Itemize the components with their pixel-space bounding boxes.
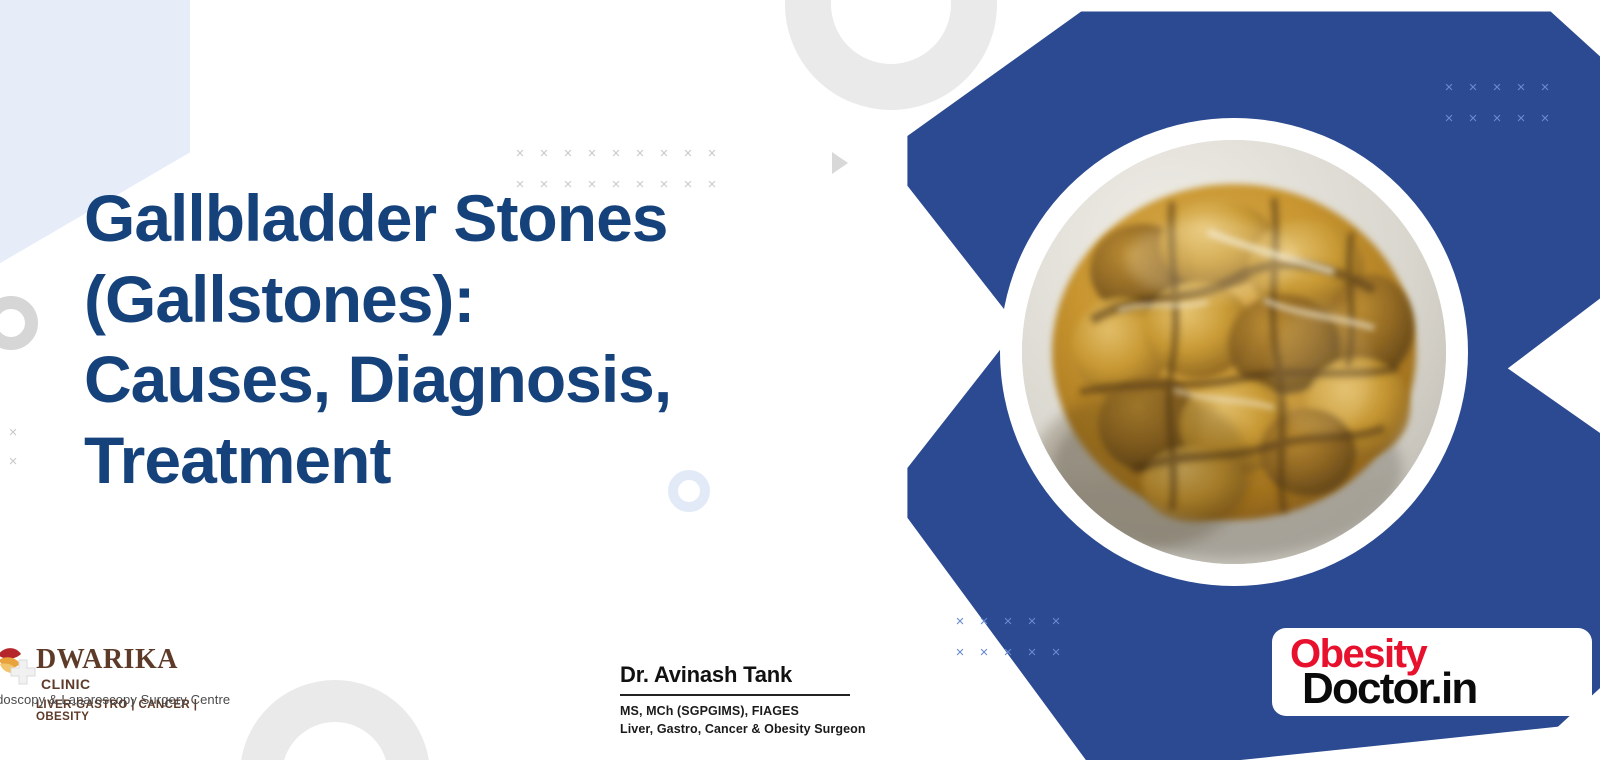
x-mark-icon: × <box>532 146 556 161</box>
x-mark-icon: × <box>1044 614 1068 629</box>
dwarika-clinic-logo: DWARIKACLINIC LIVER-GASTRO | CANCER | OB… <box>0 640 230 718</box>
x-mark-icon: × <box>972 614 996 629</box>
x-mark-icon: × <box>1044 645 1068 660</box>
dwarika-wordmark: DWARIKACLINIC LIVER-GASTRO | CANCER | OB… <box>36 644 230 723</box>
x-mark-icon: × <box>2 454 24 469</box>
x-mark-icon: × <box>604 146 628 161</box>
x-mark-icon: × <box>1509 111 1533 126</box>
dwarika-subtitle: Endoscopy & Laparoscopy Surgery Centre <box>0 692 230 707</box>
x-mark-icon: × <box>1485 80 1509 95</box>
x-pattern-bottom: ×××××××××× <box>948 614 1068 660</box>
x-mark-icon: × <box>948 614 972 629</box>
x-mark-icon: × <box>1461 111 1485 126</box>
x-mark-icon: × <box>1437 111 1461 126</box>
doctor-qualifications: MS, MCh (SGPGIMS), FIAGES <box>620 704 799 718</box>
x-mark-icon: × <box>1437 80 1461 95</box>
x-mark-icon: × <box>652 146 676 161</box>
x-mark-icon: × <box>1020 645 1044 660</box>
x-mark-icon: × <box>1485 111 1509 126</box>
x-pattern-left-edge: ×× <box>2 425 24 469</box>
x-mark-icon: × <box>556 146 580 161</box>
page-title: Gallbladder Stones (Gallstones): Causes,… <box>84 178 884 500</box>
x-mark-icon: × <box>580 146 604 161</box>
x-mark-icon: × <box>996 614 1020 629</box>
doctor-card-divider <box>620 694 850 696</box>
x-mark-icon: × <box>508 146 532 161</box>
gallstone-photo <box>1022 140 1446 564</box>
x-mark-icon: × <box>700 146 724 161</box>
x-mark-icon: × <box>1461 80 1485 95</box>
band-notch-top <box>1494 0 1600 160</box>
dwarika-name: DWARIKA <box>36 644 178 676</box>
x-mark-icon: × <box>972 645 996 660</box>
play-triangle-icon <box>832 152 848 174</box>
doctor-name: Dr. Avinash Tank <box>620 662 792 688</box>
obesity-doctor-logo: Obesity Doctor.in <box>1272 628 1592 716</box>
x-mark-icon: × <box>1533 111 1557 126</box>
doctor-specialty: Liver, Gastro, Cancer & Obesity Surgeon <box>620 722 866 736</box>
x-mark-icon: × <box>1533 80 1557 95</box>
grey-ring-top <box>785 0 997 110</box>
grey-ring-bottom-left <box>240 680 430 760</box>
banner-canvas: ×××××××××××××××××× ×××××××××× ××××××××××… <box>0 0 1600 760</box>
x-mark-icon: × <box>1509 80 1533 95</box>
x-mark-icon: × <box>676 146 700 161</box>
x-mark-icon: × <box>2 425 24 440</box>
doctor-name-card: Dr. Avinash Tank MS, MCh (SGPGIMS), FIAG… <box>556 650 908 760</box>
grey-ring-left-edge <box>0 296 38 350</box>
dwarika-clinic-word: CLINIC <box>41 676 91 692</box>
x-mark-icon: × <box>996 645 1020 660</box>
x-mark-icon: × <box>1020 614 1044 629</box>
doctor-in-word: Doctor.in <box>1302 664 1476 714</box>
doctor-credentials: MS, MCh (SGPGIMS), FIAGESLiver, Gastro, … <box>620 702 866 738</box>
x-mark-icon: × <box>948 645 972 660</box>
x-pattern-top-right: ×××××××××× <box>1437 80 1557 126</box>
x-mark-icon: × <box>628 146 652 161</box>
